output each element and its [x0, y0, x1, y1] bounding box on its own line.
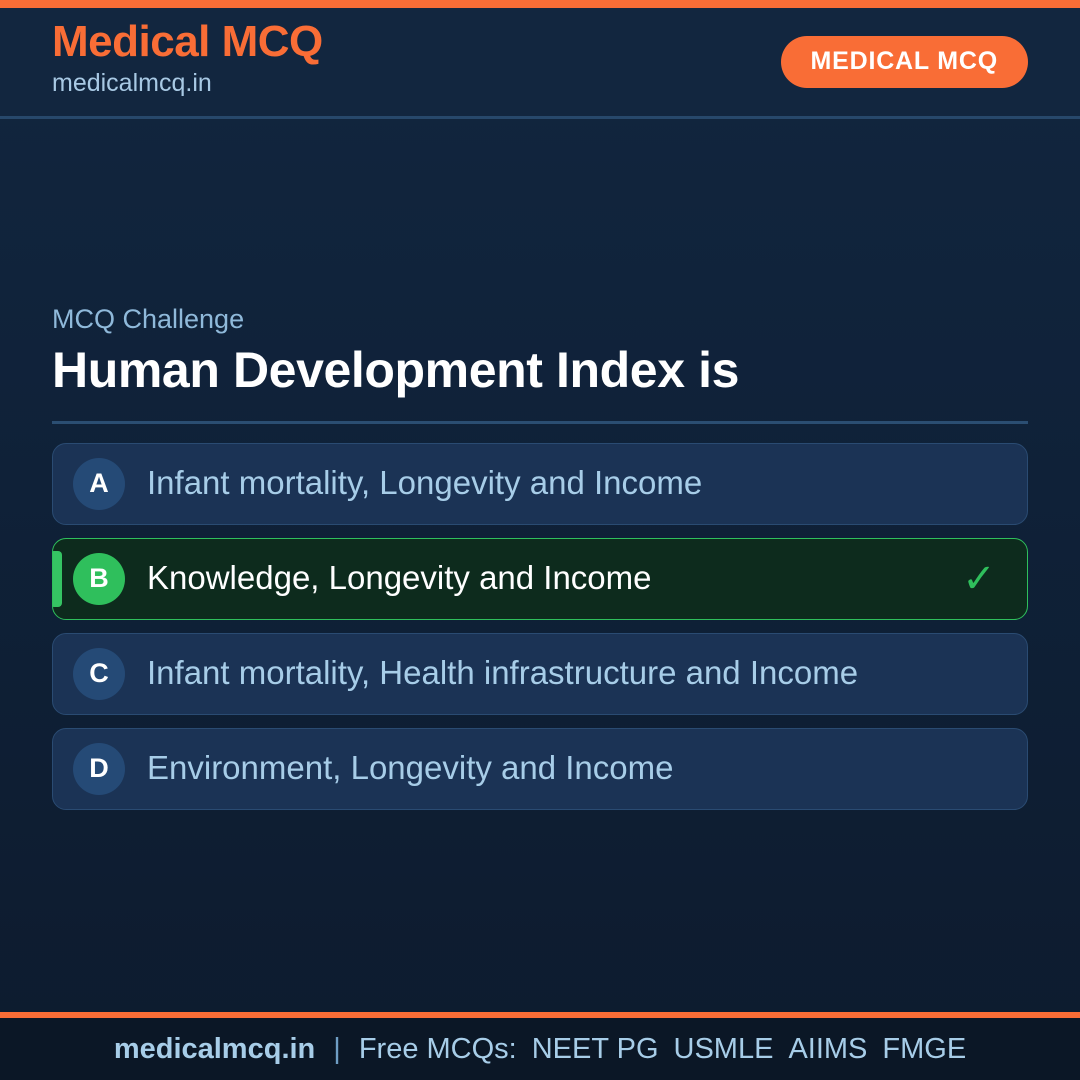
- header-badge: MEDICAL MCQ: [781, 36, 1029, 88]
- header-bar: Medical MCQ medicalmcq.in MEDICAL MCQ: [0, 8, 1080, 119]
- option-letter-badge: B: [73, 553, 125, 605]
- top-accent-rule: [0, 0, 1080, 8]
- question-block: MCQ Challenge Human Development Index is: [52, 303, 1028, 442]
- mcq-card: Medical MCQ medicalmcq.in MEDICAL MCQ MC…: [0, 0, 1080, 1080]
- footer-bar: medicalmcq.in | Free MCQs: NEET PG USMLE…: [0, 1012, 1080, 1080]
- option-b[interactable]: B Knowledge, Longevity and Income ✓: [52, 538, 1028, 620]
- option-text: Infant mortality, Longevity and Income: [147, 465, 957, 502]
- footer-label: Free MCQs:: [359, 1035, 517, 1064]
- question-text: Human Development Index is: [52, 342, 1028, 398]
- footer-tag-fmge: FMGE: [867, 1035, 966, 1064]
- brand-block: Medical MCQ medicalmcq.in: [52, 20, 323, 99]
- option-text: Infant mortality, Health infrastructure …: [147, 655, 957, 692]
- option-letter-badge: C: [73, 648, 125, 700]
- option-text: Knowledge, Longevity and Income: [147, 560, 957, 597]
- correct-accent-bar: [53, 551, 62, 607]
- footer-tag-aiims: AIIMS: [773, 1035, 867, 1064]
- option-letter-badge: D: [73, 743, 125, 795]
- footer-tag-usmle: USMLE: [659, 1035, 774, 1064]
- footer-site: medicalmcq.in: [114, 1035, 315, 1064]
- question-kicker: MCQ Challenge: [52, 303, 1028, 335]
- footer-separator: |: [315, 1035, 359, 1064]
- option-a[interactable]: A Infant mortality, Longevity and Income: [52, 443, 1028, 525]
- options-list: A Infant mortality, Longevity and Income…: [52, 443, 1028, 810]
- brand-title: Medical MCQ: [52, 20, 323, 65]
- option-c[interactable]: C Infant mortality, Health infrastructur…: [52, 633, 1028, 715]
- question-divider: [52, 421, 1028, 424]
- option-letter-badge: A: [73, 458, 125, 510]
- check-icon: ✓: [957, 559, 1001, 599]
- footer-tag-neet-pg: NEET PG: [517, 1035, 659, 1064]
- option-text: Environment, Longevity and Income: [147, 750, 957, 787]
- brand-subtitle: medicalmcq.in: [52, 67, 323, 100]
- option-d[interactable]: D Environment, Longevity and Income: [52, 728, 1028, 810]
- main-content: MCQ Challenge Human Development Index is…: [0, 119, 1080, 1012]
